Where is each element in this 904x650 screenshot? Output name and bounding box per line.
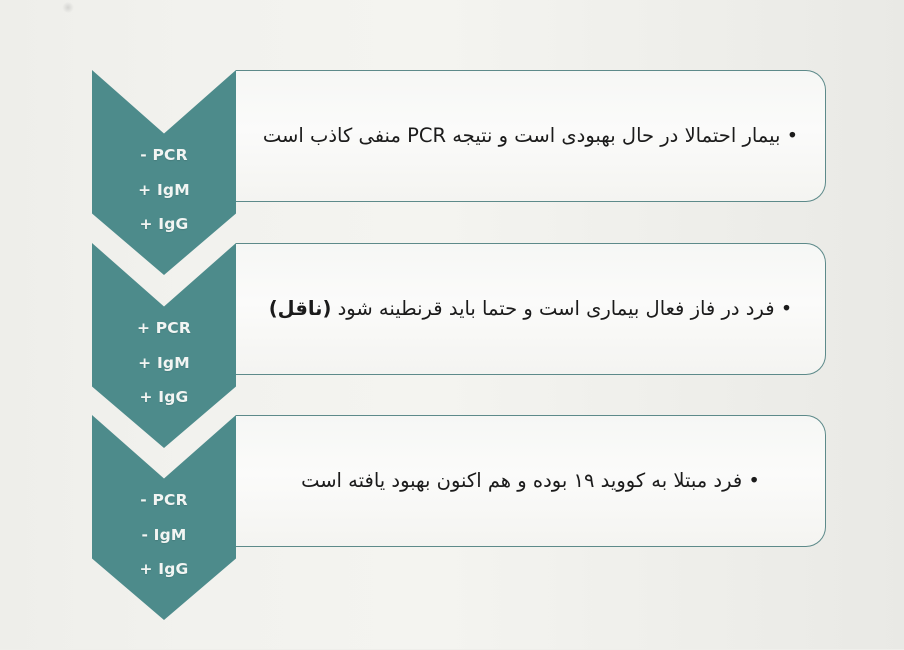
interpretation-text: • فرد مبتلا به کووید ۱۹ بوده و هم اکنون … xyxy=(262,465,799,497)
interpretation-callout: • فرد در فاز فعال بیماری است و حتما باید… xyxy=(236,243,826,375)
chevron-marker-line: + IgM xyxy=(138,183,190,199)
interpretation-callout: • فرد مبتلا به کووید ۱۹ بوده و هم اکنون … xyxy=(236,415,826,547)
slide-canvas: - PCR + IgM + IgG • بیمار احتمالا در حال… xyxy=(0,0,904,649)
interpretation-body: فرد در فاز فعال بیماری است و حتما باید ق… xyxy=(338,297,775,320)
bullet-glyph: • xyxy=(781,297,793,320)
interpretation-text: • بیمار احتمالا در حال بهبودی است و نتیج… xyxy=(262,120,799,152)
bullet-glyph: • xyxy=(787,124,799,147)
chevron-marker-line: + IgG xyxy=(140,390,189,406)
chevron-marker-line: - PCR xyxy=(140,493,188,509)
chevron-marker-line: + PCR xyxy=(137,321,191,337)
chevron-marker-line: + IgG xyxy=(140,562,189,578)
interpretation-emphasis: (ناقل) xyxy=(269,297,332,320)
interpretation-body: فرد مبتلا به کووید ۱۹ بوده و هم اکنون به… xyxy=(301,469,742,492)
interpretation-callout: • بیمار احتمالا در حال بهبودی است و نتیج… xyxy=(236,70,826,202)
chevron-marker-line: + IgG xyxy=(140,217,189,233)
interpretation-body: بیمار احتمالا در حال بهبودی است و نتیجه … xyxy=(263,124,781,147)
interpretation-text: • فرد در فاز فعال بیماری است و حتما باید… xyxy=(262,293,799,325)
result-row: - PCR - IgM + IgG • فرد مبتلا به کووید ۱… xyxy=(0,415,904,650)
chevron-marker-block: - PCR - IgM + IgG xyxy=(92,415,236,620)
chevron-marker-line: + IgM xyxy=(138,356,190,372)
chevron-marker-line: - IgM xyxy=(141,528,186,544)
background-speck xyxy=(62,2,74,13)
bullet-glyph: • xyxy=(748,469,760,492)
chevron-marker-line: - PCR xyxy=(140,148,188,164)
